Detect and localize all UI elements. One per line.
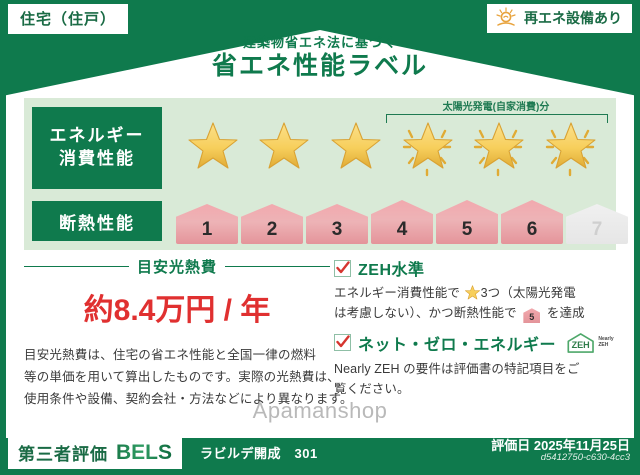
- checkmark-icon: [336, 261, 350, 275]
- insulation-level-4-number: 4: [397, 219, 408, 241]
- evaluation-id: d5412750-c630-4cc3: [541, 452, 630, 463]
- insulation-level-7-number: 7: [592, 219, 603, 241]
- energy-performance-row: エネルギー 消費性能: [24, 104, 616, 192]
- checks-column: ZEH水準 エネルギー消費性能で 3つ（太陽光発電 は考慮しない）、かつ断熱性能…: [330, 256, 620, 416]
- label-footer: 第三者評価 BELS ラビルデ開成 301 評価日 2025年11月25日 d5…: [0, 433, 640, 475]
- check-body-prefix: エネルギー消費性能で: [334, 286, 460, 300]
- insulation-level-7: 7: [566, 204, 628, 244]
- cost-heading-rule-left: [24, 266, 129, 267]
- third-party-eval-label: 第三者評価: [18, 440, 108, 465]
- zeh-logo-subtext: Nearly ZEH: [598, 337, 620, 349]
- check-body-zeh-level: エネルギー消費性能で 3つ（太陽光発電 は考慮しない）、かつ断熱性能で 5 を達…: [334, 283, 620, 324]
- stars-area: [162, 107, 616, 189]
- star-icon: [403, 121, 453, 171]
- sun-icon: [493, 7, 519, 29]
- insulation-level-6: 6: [501, 200, 563, 244]
- check-head-net-zero-energy: ネット・ゼロ・エネルギー ZEH Nearly ZEH: [334, 330, 620, 356]
- cost-note: 目安光熱費は、住宅の省エネ性能と全国一律の燃料 等の単価を用いて算出したものです…: [24, 345, 330, 411]
- insulation-level-4: 4: [371, 200, 433, 244]
- check-body-suffix: を達成: [547, 306, 585, 320]
- insulation-performance-label: 断熱性能: [32, 201, 162, 241]
- check-body-star-count: 3つ（太陽光発電: [481, 286, 576, 300]
- star-icon: [331, 121, 381, 171]
- insulation-level-2-number: 2: [267, 219, 278, 241]
- check-head-zeh-level: ZEH水準: [334, 256, 620, 280]
- check-body-net-zero-energy: Nearly ZEH の要件は評価書の特記項目をご 覧ください。: [334, 359, 620, 400]
- svg-text:ZEH: ZEH: [572, 339, 590, 349]
- checkmark-icon: [336, 335, 350, 349]
- insulation-level-5: 5: [436, 200, 498, 244]
- check-body-line-1: Nearly ZEH の要件は評価書の特記項目をご: [334, 359, 620, 379]
- insulation-level-5-number: 5: [462, 219, 473, 241]
- cost-note-line-1: 目安光熱費は、住宅の省エネ性能と全国一律の燃料: [24, 345, 330, 367]
- inline-insulation-badge: 5: [523, 308, 540, 323]
- star-2: [252, 115, 314, 181]
- insulation-performance-row: 断熱性能 1 2 3 4: [24, 198, 616, 244]
- energy-performance-label-line2: 消費性能: [32, 148, 162, 171]
- insulation-level-1-number: 1: [202, 219, 213, 241]
- check-title-net-zero-energy: ネット・ゼロ・エネルギー: [358, 331, 556, 355]
- bels-certification-badge: 第三者評価 BELS: [8, 437, 182, 469]
- star-4-solar: [396, 115, 458, 181]
- property-name: ラビルデ開成 301: [200, 443, 318, 462]
- checkbox-checked: [334, 334, 351, 351]
- renewable-energy-tag-label: 再エネ設備あり: [524, 8, 622, 28]
- performance-panel: エネルギー 消費性能: [24, 98, 616, 250]
- zeh-house-icon: ZEH: [565, 330, 596, 356]
- energy-performance-label: 住宅（住戸） 再エネ設備あり 建築物省エネ法に基づく 省エネ性能ラベル: [0, 0, 640, 475]
- star-1: [181, 115, 243, 181]
- check-body-mid: は考慮しない）、かつ断熱性能で: [334, 306, 517, 320]
- building-type-tag: 住宅（住戸）: [8, 4, 128, 34]
- check-item-zeh-level: ZEH水準 エネルギー消費性能で 3つ（太陽光発電 は考慮しない）、かつ断熱性能…: [334, 256, 620, 324]
- insulation-level-6-number: 6: [527, 219, 538, 241]
- star-icon: [474, 121, 524, 171]
- star-6-solar: [539, 115, 601, 181]
- star-3: [324, 115, 386, 181]
- check-body-line-2: 覧ください。: [334, 379, 620, 399]
- star-icon: [259, 121, 309, 171]
- renewable-energy-tag: 再エネ設備あり: [487, 4, 632, 33]
- insulation-level-3: 3: [306, 204, 368, 244]
- cost-heading-text: 目安光熱費: [137, 256, 217, 277]
- check-item-net-zero-energy: ネット・ゼロ・エネルギー ZEH Nearly ZEH Nearly ZEH の…: [334, 330, 620, 400]
- star-icon: [546, 121, 596, 171]
- label-content: 目安光熱費 約8.4万円 / 年 目安光熱費は、住宅の省エネ性能と全国一律の燃料…: [24, 256, 620, 416]
- insulation-level-1: 1: [176, 204, 238, 244]
- insulation-level-3-number: 3: [332, 219, 343, 241]
- star-5-solar: [467, 115, 529, 181]
- cost-value: 約8.4万円 / 年: [24, 285, 330, 329]
- star-icon: [188, 121, 238, 171]
- cost-note-line-2: 等の単価を用いて算出したものです。実際の光熱費は、: [24, 367, 330, 389]
- zeh-logo: ZEH Nearly ZEH: [565, 330, 620, 356]
- checkbox-checked: [334, 260, 351, 277]
- cost-column: 目安光熱費 約8.4万円 / 年 目安光熱費は、住宅の省エネ性能と全国一律の燃料…: [24, 256, 330, 416]
- inline-star-icon: [465, 285, 480, 300]
- cost-heading: 目安光熱費: [24, 256, 330, 277]
- insulation-level-2: 2: [241, 204, 303, 244]
- insulation-levels: 1 2 3 4 5: [162, 198, 628, 244]
- energy-performance-label: エネルギー 消費性能: [32, 107, 162, 189]
- cost-note-line-3: 使用条件や設備、契約会社・方法などにより異なります。: [24, 389, 330, 411]
- check-title-zeh-level: ZEH水準: [358, 256, 425, 280]
- bels-logo-text: BELS: [116, 441, 172, 465]
- energy-performance-label-line1: エネルギー: [32, 125, 162, 148]
- cost-heading-rule-right: [225, 266, 330, 267]
